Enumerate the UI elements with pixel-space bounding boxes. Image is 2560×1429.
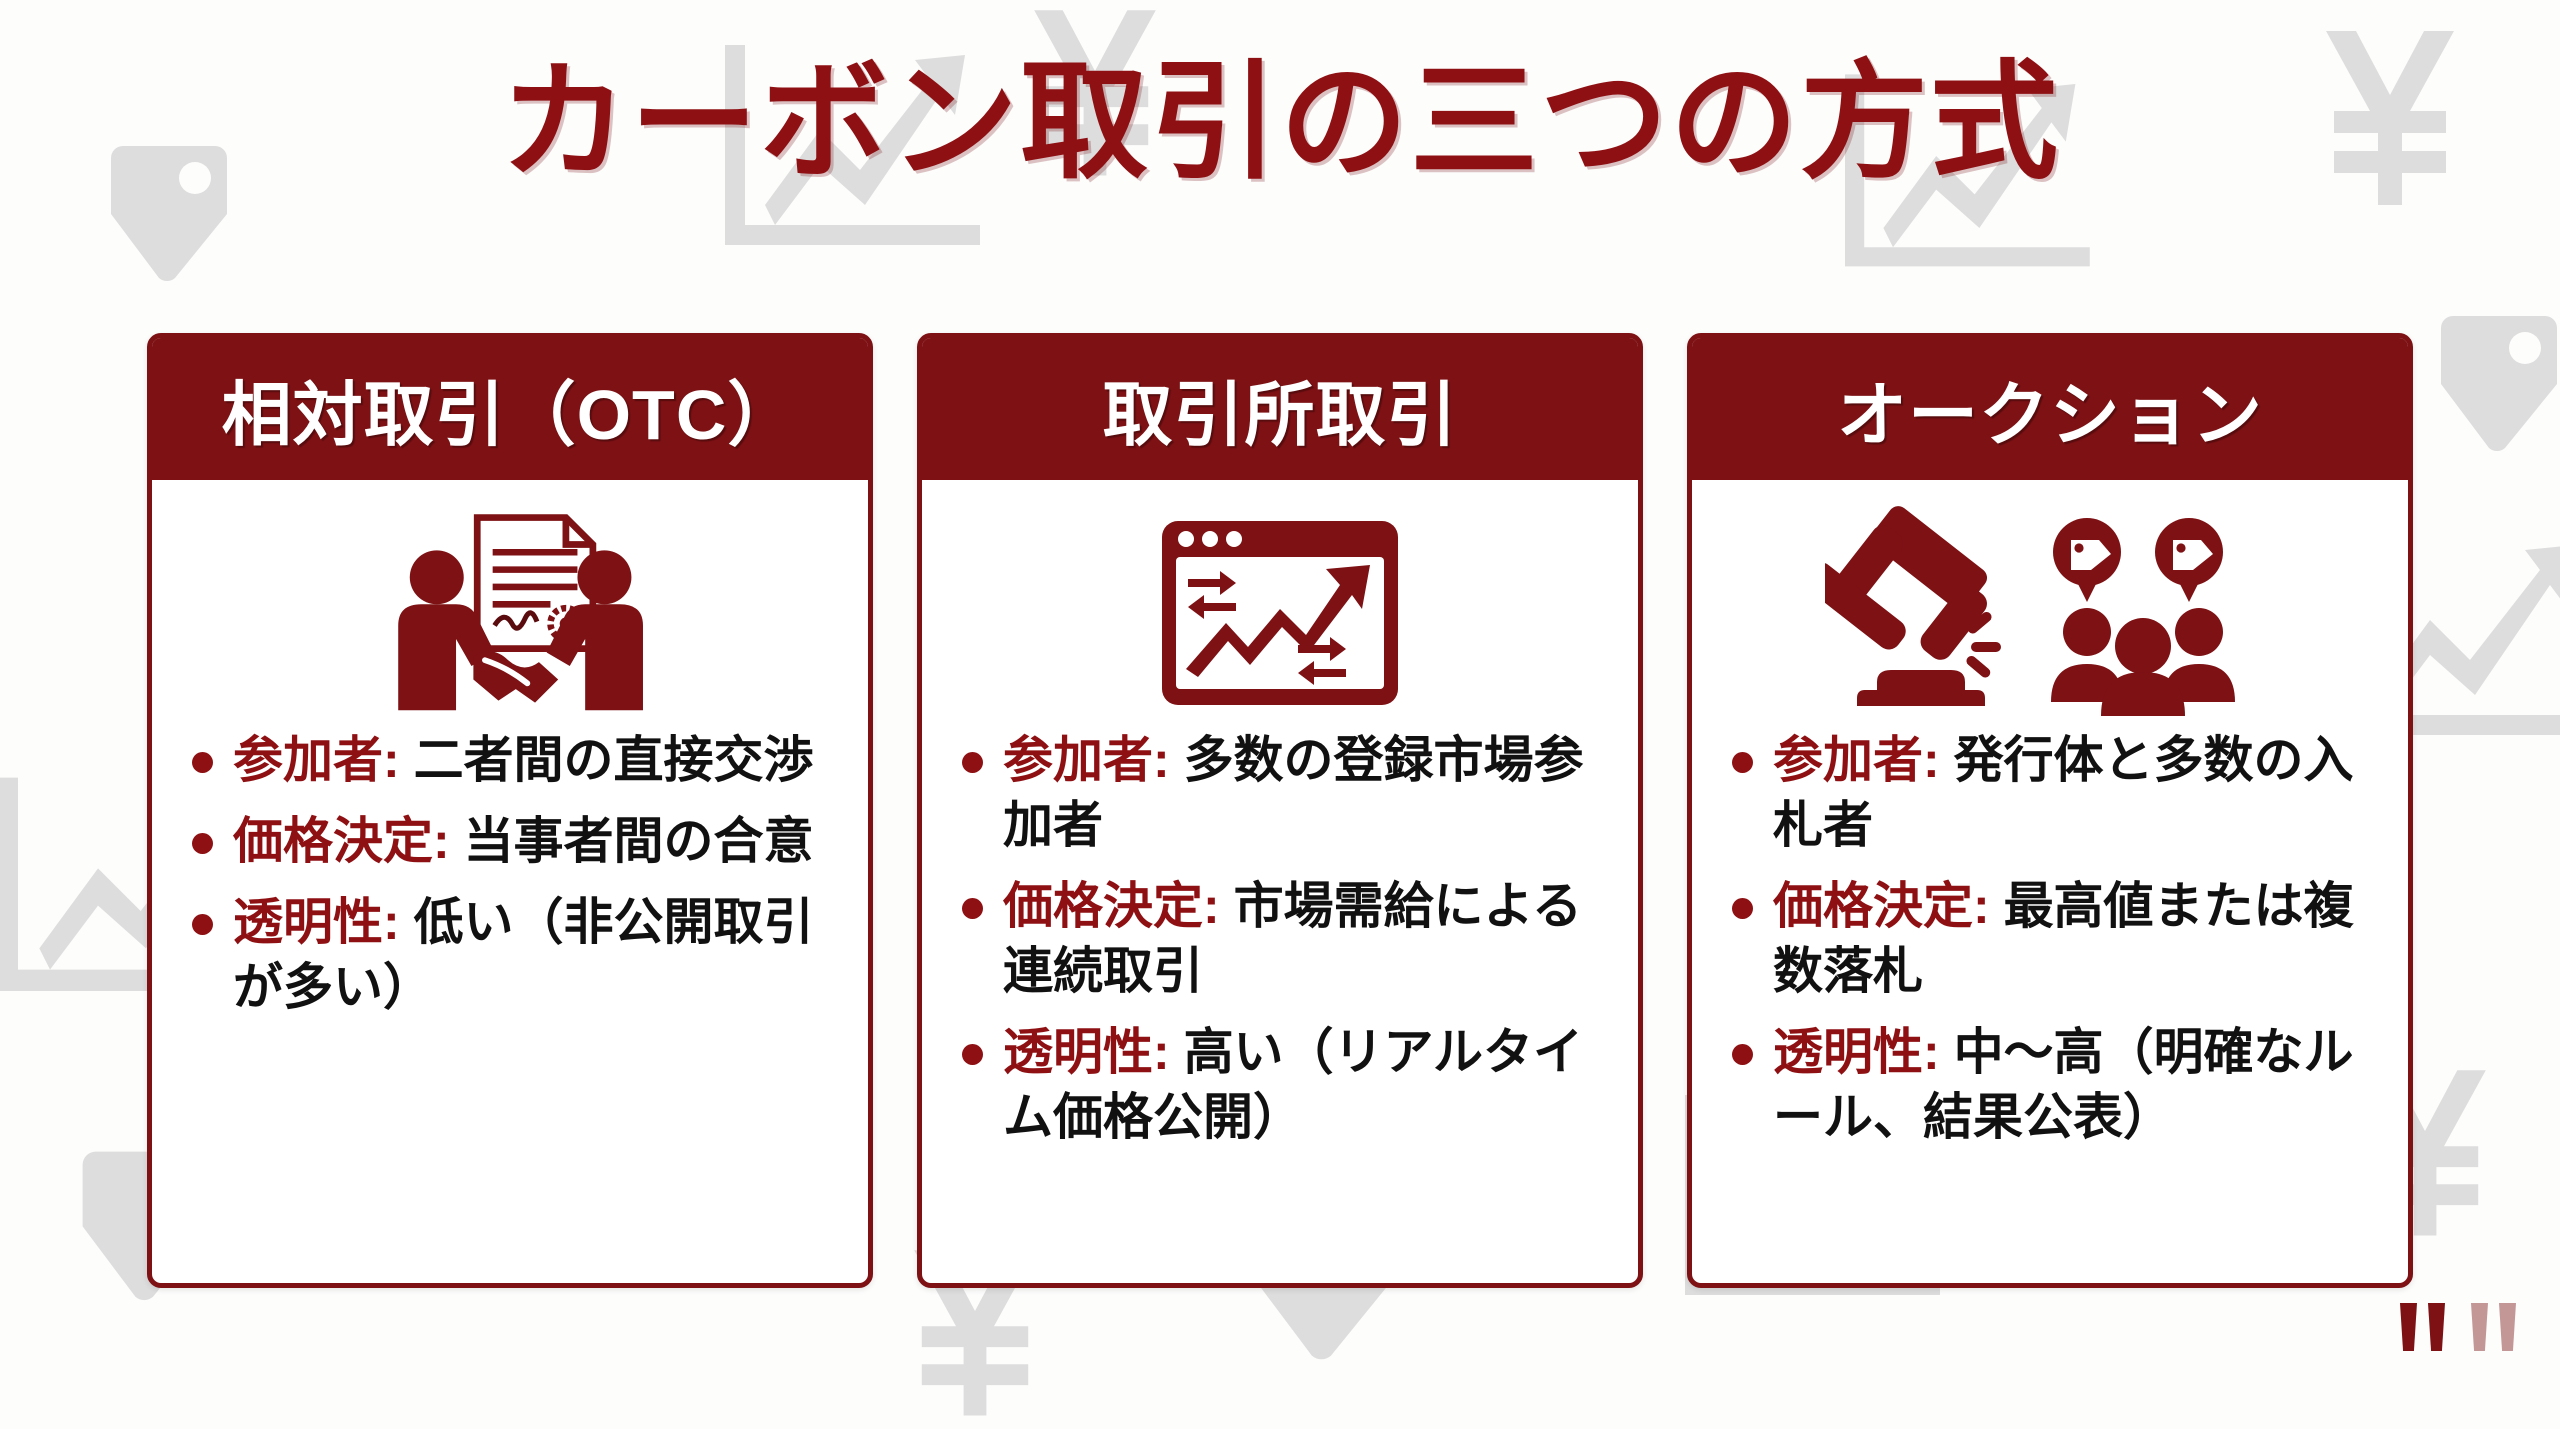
list-item: 透明性: 低い（非公開取引が多い） (192, 890, 834, 1020)
bullet-dot-icon (192, 833, 213, 854)
bullet-text: 参加者: 多数の登録市場参加者 (1003, 728, 1604, 858)
card-header-exchange: 取引所取引 (922, 338, 1638, 480)
list-item: 価格決定: 市場需給による連続取引 (962, 874, 1604, 1004)
quote-group-light (2471, 1303, 2516, 1351)
bullet-text: 価格決定: 当事者間の合意 (233, 809, 834, 874)
quote-bar (2471, 1303, 2488, 1351)
quote-bar (2400, 1303, 2417, 1351)
list-item: 参加者: 発行体と多数の入札者 (1732, 728, 2374, 858)
bullet-label: 透明性: (233, 894, 400, 950)
list-item: 参加者: 二者間の直接交渉 (192, 728, 834, 793)
bullet-text: 参加者: 二者間の直接交渉 (233, 728, 834, 793)
method-card-auction[interactable]: オークション (1687, 333, 2413, 1288)
bullet-label: 透明性: (1003, 1024, 1170, 1080)
bullet-dot-icon (1732, 898, 1753, 919)
closing-quote-mark (2400, 1303, 2516, 1351)
bullet-dot-icon (1732, 1044, 1753, 1065)
bullet-dot-icon (962, 898, 983, 919)
bullet-dot-icon (962, 1044, 983, 1065)
method-cards-row: 相対取引（OTC） (0, 333, 2560, 1293)
bullet-list-otc: 参加者: 二者間の直接交渉 価格決定: 当事者間の合意 透明性: 低い（非公開取… (152, 728, 868, 1036)
list-item: 価格決定: 当事者間の合意 (192, 809, 834, 874)
bullet-text: 透明性: 高い（リアルタイム価格公開） (1003, 1020, 1604, 1150)
card-header-otc: 相対取引（OTC） (152, 338, 868, 480)
card-body-exchange: 参加者: 多数の登録市場参加者 価格決定: 市場需給による連続取引 透明性: 高… (922, 480, 1638, 1283)
bullet-label: 価格決定: (1003, 878, 1220, 934)
quote-group-dark (2400, 1303, 2445, 1351)
quote-bar (2428, 1303, 2445, 1351)
bullet-text: 透明性: 中〜高（明確なルール、結果公表） (1773, 1020, 2374, 1150)
bullet-list-auction: 参加者: 発行体と多数の入札者 価格決定: 最高値または複数落札 透明性: 中〜… (1692, 728, 2408, 1166)
quote-bar (2499, 1303, 2516, 1351)
bullet-label: 参加者: (1003, 732, 1170, 788)
bullet-list-exchange: 参加者: 多数の登録市場参加者 価格決定: 市場需給による連続取引 透明性: 高… (922, 728, 1638, 1166)
list-item: 価格決定: 最高値または複数落札 (1732, 874, 2374, 1004)
method-card-otc[interactable]: 相対取引（OTC） (147, 333, 873, 1288)
bullet-label: 価格決定: (233, 813, 450, 869)
bullet-label: 参加者: (1773, 732, 1940, 788)
bullet-value: 当事者間の合意 (464, 813, 814, 869)
bullet-text: 透明性: 低い（非公開取引が多い） (233, 890, 834, 1020)
bullet-label: 参加者: (233, 732, 400, 788)
bullet-text: 価格決定: 市場需給による連続取引 (1003, 874, 1604, 1004)
bullet-dot-icon (962, 752, 983, 773)
list-item: 透明性: 中〜高（明確なルール、結果公表） (1732, 1020, 2374, 1150)
trading-screen-icon (1154, 506, 1406, 718)
page-title: カーボン取引の三つの方式 (0, 54, 2560, 192)
list-item: 透明性: 高い（リアルタイム価格公開） (962, 1020, 1604, 1150)
bullet-label: 価格決定: (1773, 878, 1990, 934)
bullet-value: 二者間の直接交渉 (414, 732, 814, 788)
handshake-contract-icon (365, 506, 655, 718)
gavel-bidders-icon (1825, 506, 2275, 718)
card-header-auction: オークション (1692, 338, 2408, 480)
bullet-text: 価格決定: 最高値または複数落札 (1773, 874, 2374, 1004)
card-body-otc: 参加者: 二者間の直接交渉 価格決定: 当事者間の合意 透明性: 低い（非公開取… (152, 480, 868, 1283)
method-card-exchange[interactable]: 取引所取引 (917, 333, 1643, 1288)
bullet-label: 透明性: (1773, 1024, 1940, 1080)
list-item: 参加者: 多数の登録市場参加者 (962, 728, 1604, 858)
card-body-auction: 参加者: 発行体と多数の入札者 価格決定: 最高値または複数落札 透明性: 中〜… (1692, 480, 2408, 1283)
bullet-dot-icon (192, 752, 213, 773)
bullet-dot-icon (1732, 752, 1753, 773)
bullet-text: 参加者: 発行体と多数の入札者 (1773, 728, 2374, 858)
bullet-dot-icon (192, 914, 213, 935)
